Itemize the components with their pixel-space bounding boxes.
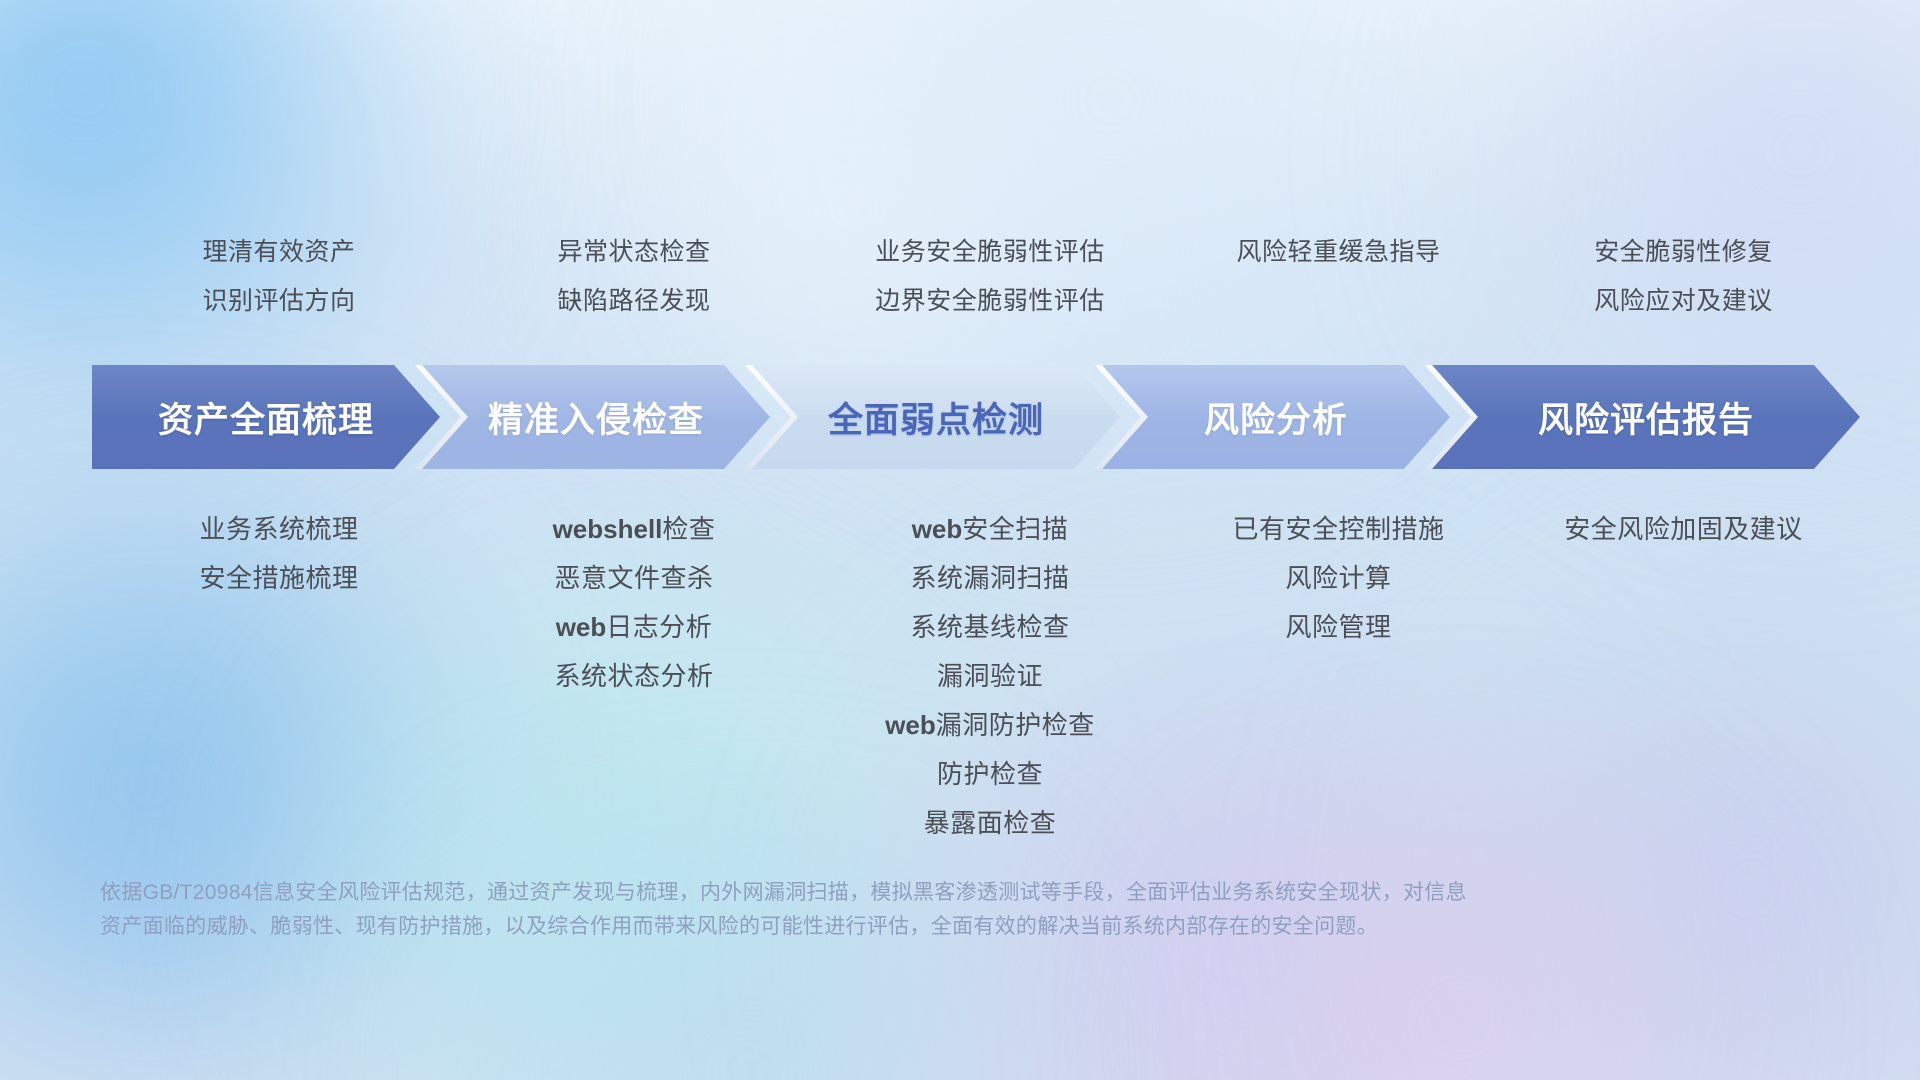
bottom-item-cn: 已有安全控制措施	[1232, 514, 1444, 544]
stage-arrow-4[interactable]: 风险分析	[1102, 365, 1450, 469]
bottom-item: 系统基线检查	[910, 603, 1069, 652]
stage-arrow-5-label: 风险评估报告	[1538, 392, 1754, 443]
column-top-3: 业务安全脆弱性评估 边界安全脆弱性评估	[810, 228, 1170, 326]
bottom-item-cn: 漏洞验证	[937, 661, 1043, 691]
bottom-item: 恶意文件查杀	[554, 554, 713, 603]
stage-arrow-3-label: 全面弱点检测	[828, 392, 1044, 443]
column-bottom-4: 已有安全控制措施 风险计算 风险管理	[1170, 505, 1507, 652]
bottom-item: 暴露面检查	[924, 799, 1057, 848]
top-item: 识别评估方向	[202, 277, 355, 326]
bottom-item: web漏洞防护检查	[885, 701, 1095, 750]
top-item: 异常状态检查	[557, 228, 710, 277]
stage-arrow-2-label: 精准入侵检查	[488, 392, 704, 443]
column-top-2: 异常状态检查 缺陷路径发现	[458, 228, 810, 326]
bottom-item-cn: 暴露面检查	[924, 808, 1057, 838]
bottom-item-en: web	[912, 514, 963, 544]
stage-arrow-1[interactable]: 资产全面梳理	[92, 365, 440, 469]
bottom-item: 已有安全控制措施	[1232, 505, 1444, 554]
bottom-item: web安全扫描	[912, 505, 1069, 554]
process-arrow-banner: 资产全面梳理 精准入侵检查 全面弱点检测 风险分析 风险评估报告	[92, 365, 1860, 469]
bottom-item-cn: 安全措施梳理	[199, 563, 358, 593]
bottom-item: 系统状态分析	[554, 652, 713, 701]
column-bottom-2: webshell检查 恶意文件查杀 web日志分析 系统状态分析	[458, 505, 810, 701]
bottom-item: 业务系统梳理	[199, 505, 358, 554]
bottom-item-cn: 风险计算	[1285, 563, 1391, 593]
bottom-item-cn: 安全扫描	[962, 514, 1068, 544]
bottom-item-en: web	[556, 612, 607, 642]
column-bottom-1: 业务系统梳理 安全措施梳理	[100, 505, 458, 603]
stage-arrow-5[interactable]: 风险评估报告	[1432, 365, 1860, 469]
bottom-item-cn: 日志分析	[606, 612, 712, 642]
top-item: 安全脆弱性修复	[1594, 228, 1773, 277]
bottom-item: 安全措施梳理	[199, 554, 358, 603]
bottom-item-cn: 系统漏洞扫描	[910, 563, 1069, 593]
bottom-item-cn: 防护检查	[937, 759, 1043, 789]
bottom-item-cn: 系统状态分析	[554, 661, 713, 691]
column-top-4: 风险轻重缓急指导	[1170, 228, 1507, 277]
stage-arrow-1-label: 资产全面梳理	[158, 392, 374, 443]
column-top-1: 理清有效资产 识别评估方向	[100, 228, 458, 326]
bottom-item-cn: 安全风险加固及建议	[1564, 514, 1803, 544]
stage-arrow-2[interactable]: 精准入侵检查	[422, 365, 770, 469]
bottom-item: 系统漏洞扫描	[910, 554, 1069, 603]
top-item: 缺陷路径发现	[557, 277, 710, 326]
footer-description: 依据GB/T20984信息安全风险评估规范，通过资产发现与梳理，内外网漏洞扫描，…	[100, 876, 1620, 944]
stage-arrow-3[interactable]: 全面弱点检测	[752, 365, 1120, 469]
column-bottom-5: 安全风险加固及建议	[1507, 505, 1860, 554]
footer-line-1: 依据GB/T20984信息安全风险评估规范，通过资产发现与梳理，内外网漏洞扫描，…	[100, 876, 1620, 910]
bottom-item-en: webshell	[553, 514, 663, 544]
top-annotations-row: 理清有效资产 识别评估方向 异常状态检查 缺陷路径发现 业务安全脆弱性评估 边界…	[100, 228, 1860, 326]
top-item: 理清有效资产	[202, 228, 355, 277]
footer-line-2: 资产面临的威胁、脆弱性、现有防护措施，以及综合作用而带来风险的可能性进行评估，全…	[100, 910, 1620, 944]
column-bottom-3: web安全扫描 系统漏洞扫描 系统基线检查 漏洞验证 web漏洞防护检查 防护检…	[810, 505, 1170, 848]
bottom-item-cn: 恶意文件查杀	[554, 563, 713, 593]
bottom-item-cn: 漏洞防护检查	[936, 710, 1095, 740]
bottom-item-en: web	[885, 710, 936, 740]
top-item: 风险应对及建议	[1594, 277, 1773, 326]
bottom-item: 防护检查	[937, 750, 1043, 799]
bottom-item-cn: 风险管理	[1285, 612, 1391, 642]
top-item: 业务安全脆弱性评估	[875, 228, 1105, 277]
column-top-5: 安全脆弱性修复 风险应对及建议	[1507, 228, 1860, 326]
bottom-item-cn: 检查	[662, 514, 715, 544]
bottom-item-cn: 业务系统梳理	[199, 514, 358, 544]
stage-arrow-4-label: 风险分析	[1204, 392, 1348, 443]
bottom-item: 漏洞验证	[937, 652, 1043, 701]
top-item: 边界安全脆弱性评估	[875, 277, 1105, 326]
bottom-item-cn: 系统基线检查	[910, 612, 1069, 642]
bottom-item: 风险计算	[1285, 554, 1391, 603]
top-item: 风险轻重缓急指导	[1236, 228, 1440, 277]
bottom-annotations-row: 业务系统梳理 安全措施梳理 webshell检查 恶意文件查杀 web日志分析 …	[100, 505, 1860, 848]
bottom-item: webshell检查	[553, 505, 716, 554]
bottom-item: 风险管理	[1285, 603, 1391, 652]
bottom-item: 安全风险加固及建议	[1564, 505, 1803, 554]
bottom-item: web日志分析	[556, 603, 713, 652]
